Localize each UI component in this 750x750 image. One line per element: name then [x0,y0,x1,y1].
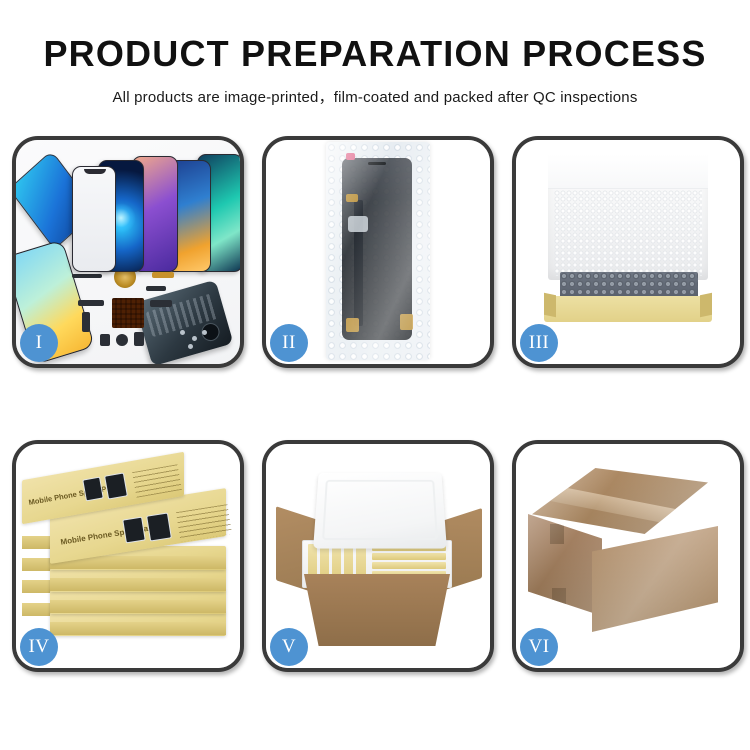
button-flex-icon [146,286,166,291]
sealed-carton [528,468,726,644]
carton-left-face-icon [528,514,602,616]
flex-cable-gold-icon [152,272,174,278]
page-subtitle: All products are image-printed，film-coat… [0,86,750,107]
stacked-box [50,612,226,636]
camera-flex-icon [150,300,172,307]
bubble-wrap-bag [326,142,430,360]
box-screen-image-2-icon [146,512,172,541]
panel-step-5: V [262,440,494,672]
process-steps-grid: I II [12,136,738,684]
foam-lid-open-icon [313,473,447,549]
box-screen-image-1-icon [122,517,146,544]
box-screen-image-3-icon [82,477,104,502]
step-badge-5: V [270,628,308,666]
carton-seam-lower-icon [552,588,566,606]
chip-array-icon [112,298,144,328]
phone-screen-fan [64,154,240,272]
vibrator-motor-icon [116,334,128,346]
step-badge-3: III [520,324,558,362]
step-badge-4: IV [20,628,58,666]
header: PRODUCT PREPARATION PROCESS All products… [0,0,750,107]
product-preparation-infographic: PRODUCT PREPARATION PROCESS All products… [0,0,750,750]
open-carton [280,462,476,652]
stacked-box [50,590,226,614]
yellow-box-stack: Mobile Phone Spare Parts Mobile Phone Sp… [22,462,238,660]
panel-step-4: Mobile Phone Spare Parts Mobile Phone Sp… [12,440,244,672]
step-badge-6: VI [520,628,558,666]
white-foam-sheet-icon [548,154,708,280]
earpiece-icon [134,332,144,346]
box-front-panel-icon [544,296,712,322]
packing-tape-icon [544,484,704,530]
panel-step-6: VI [512,440,744,672]
screws-group-icon [180,330,208,350]
spare-parts-cluster [72,260,212,356]
box-corner-right-icon [700,293,712,318]
box-corner-left-icon [544,293,556,318]
packed-box [372,562,446,569]
antenna-strip-icon [72,274,102,278]
step-badge-1: I [20,324,58,362]
foam-texture-icon [554,190,702,276]
carton-front-panel-icon [304,574,450,646]
panel-step-2: II [262,136,494,368]
box-screen-image-4-icon [104,472,128,499]
step-badge-2: II [270,324,308,362]
carton-right-face-icon [592,526,718,632]
phone-screen-glass-icon [72,166,116,272]
panel-step-3: III [512,136,744,368]
carton-seam-upper-icon [550,524,564,544]
sim-tray-icon [100,334,110,346]
bag-highlight-icon [326,142,430,360]
panel-step-1: I [12,136,244,368]
packed-box [372,553,446,560]
stacked-box-top-printed-back: Mobile Phone Spare Parts [22,466,184,510]
connector-strip-icon [78,300,104,306]
yellow-box-open [534,154,722,334]
side-flex-icon [82,312,90,332]
stacked-box [50,568,226,592]
page-title: PRODUCT PREPARATION PROCESS [0,36,750,72]
